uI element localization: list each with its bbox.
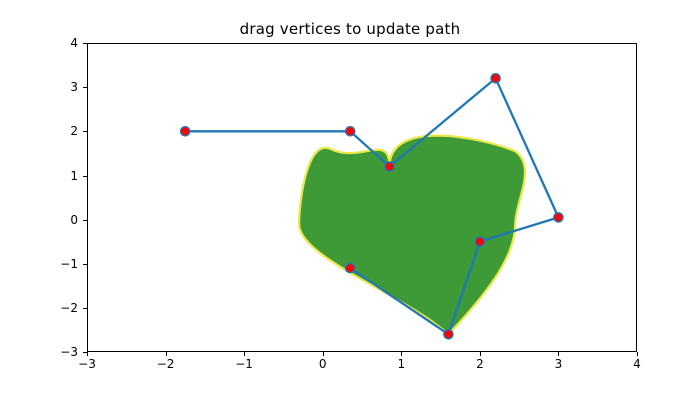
y-tick-mark (83, 264, 87, 265)
y-tick-label: −1 (53, 257, 78, 271)
y-tick-label: 4 (53, 36, 78, 50)
vertex-marker[interactable] (475, 237, 484, 246)
page-title: drag vertices to update path (0, 20, 700, 38)
x-tick-label: 1 (397, 357, 405, 371)
x-tick-mark (558, 352, 559, 356)
vertex-marker[interactable] (554, 213, 563, 222)
x-tick-mark (166, 352, 167, 356)
plot-axes[interactable] (87, 43, 637, 352)
vertex-marker[interactable] (444, 330, 453, 339)
y-tick-mark (83, 220, 87, 221)
y-tick-label: 3 (53, 80, 78, 94)
y-tick-mark (83, 43, 87, 44)
y-tick-mark (83, 308, 87, 309)
y-tick-mark (83, 87, 87, 88)
x-tick-label: −1 (235, 357, 253, 371)
x-tick-mark (401, 352, 402, 356)
x-tick-label: −2 (157, 357, 175, 371)
y-tick-label: −2 (53, 301, 78, 315)
vertex-marker[interactable] (181, 127, 190, 136)
vertex-marker[interactable] (385, 162, 394, 171)
heart-patch[interactable] (299, 136, 525, 335)
y-tick-mark (83, 352, 87, 353)
y-tick-label: 0 (53, 213, 78, 227)
x-tick-mark (87, 352, 88, 356)
y-tick-label: −3 (53, 345, 78, 359)
vertex-marker[interactable] (346, 264, 355, 273)
x-tick-mark (480, 352, 481, 356)
y-tick-mark (83, 131, 87, 132)
matplotlib-figure: drag vertices to update path −3 −2 −1 0 … (0, 0, 700, 400)
y-tick-label: 1 (53, 169, 78, 183)
x-tick-mark (323, 352, 324, 356)
plot-canvas[interactable] (87, 43, 637, 352)
x-tick-label: 2 (476, 357, 484, 371)
vertex-marker[interactable] (346, 127, 355, 136)
x-tick-label: −3 (78, 357, 96, 371)
x-tick-label: 3 (555, 357, 563, 371)
y-tick-label: 2 (53, 124, 78, 138)
x-tick-label: 4 (633, 357, 641, 371)
x-tick-label: 0 (319, 357, 327, 371)
vertex-marker[interactable] (491, 74, 500, 83)
x-tick-mark (637, 352, 638, 356)
x-tick-mark (244, 352, 245, 356)
y-tick-mark (83, 176, 87, 177)
